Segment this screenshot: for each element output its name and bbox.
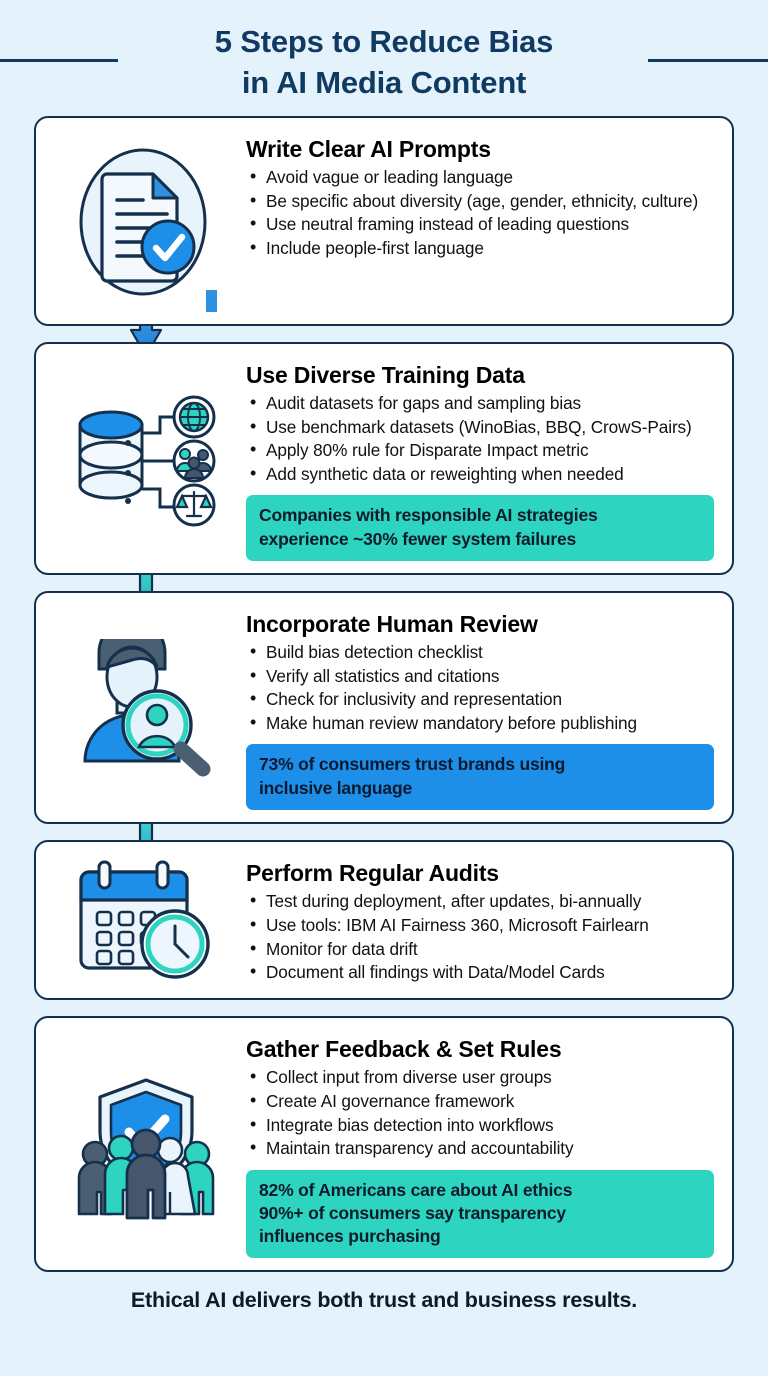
stat-badge-2: Companies with responsible AI strategies… bbox=[246, 495, 714, 561]
database-network-icon bbox=[46, 381, 246, 535]
step-bullets-1: Avoid vague or leading language Be speci… bbox=[246, 166, 714, 259]
bullet-item: Integrate bias detection into workflows bbox=[246, 1114, 714, 1137]
step-card-5: Gather Feedback & Set Rules Collect inpu… bbox=[34, 1016, 734, 1272]
steps-list: Write Clear AI Prompts Avoid vague or le… bbox=[0, 116, 768, 1273]
bullet-item: Avoid vague or leading language bbox=[246, 166, 714, 189]
bullet-item: Maintain transparency and accountability bbox=[246, 1137, 714, 1160]
bullet-item: Make human review mandatory before publi… bbox=[246, 712, 714, 735]
bullet-item: Monitor for data drift bbox=[246, 938, 714, 961]
bullet-item: Build bias detection checklist bbox=[246, 641, 714, 664]
step-body-3: Incorporate Human Review Build bias dete… bbox=[246, 605, 716, 810]
step-bullets-2: Audit datasets for gaps and sampling bia… bbox=[246, 392, 714, 485]
header-rule-right bbox=[648, 59, 768, 62]
step-body-4: Perform Regular Audits Test during deplo… bbox=[246, 854, 716, 985]
bullet-item: Create AI governance framework bbox=[246, 1090, 714, 1113]
header: 5 Steps to Reduce Bias in AI Media Conte… bbox=[0, 0, 768, 104]
bullet-item: Audit datasets for gaps and sampling bia… bbox=[246, 392, 714, 415]
bullet-item: Use benchmark datasets (WinoBias, BBQ, C… bbox=[246, 416, 714, 439]
bullet-item: Document all findings with Data/Model Ca… bbox=[246, 961, 714, 984]
step-body-1: Write Clear AI Prompts Avoid vague or le… bbox=[246, 130, 716, 261]
page-title: 5 Steps to Reduce Bias in AI Media Conte… bbox=[0, 22, 768, 104]
bullet-item: Check for inclusivity and representation bbox=[246, 688, 714, 711]
bullet-item: Use neutral framing instead of leading q… bbox=[246, 213, 714, 236]
stat-badge-5: 82% of Americans care about AI ethics 90… bbox=[246, 1170, 714, 1259]
calendar-clock-icon bbox=[46, 854, 246, 986]
step-title-5: Gather Feedback & Set Rules bbox=[246, 1036, 714, 1062]
document-check-icon bbox=[46, 130, 246, 312]
bullet-item: Apply 80% rule for Disparate Impact metr… bbox=[246, 439, 714, 462]
bullet-item: Include people-first language bbox=[246, 237, 714, 260]
shield-people-icon bbox=[46, 1068, 246, 1220]
stat-badge-3: 73% of consumers trust brands using incl… bbox=[246, 744, 714, 810]
footer-tagline: Ethical AI delivers both trust and busin… bbox=[0, 1288, 768, 1313]
bullet-item: Be specific about diversity (age, gender… bbox=[246, 190, 714, 213]
step-title-2: Use Diverse Training Data bbox=[246, 362, 714, 388]
step-card-1: Write Clear AI Prompts Avoid vague or le… bbox=[34, 116, 734, 326]
bullet-item: Use tools: IBM AI Fairness 360, Microsof… bbox=[246, 914, 714, 937]
step-card-4: Perform Regular Audits Test during deplo… bbox=[34, 840, 734, 1000]
person-magnifier-icon bbox=[46, 635, 246, 779]
header-rule-left bbox=[0, 59, 118, 62]
bullet-item: Collect input from diverse user groups bbox=[246, 1066, 714, 1089]
step-bullets-5: Collect input from diverse user groups C… bbox=[246, 1066, 714, 1159]
step-title-3: Incorporate Human Review bbox=[246, 611, 714, 637]
step-body-5: Gather Feedback & Set Rules Collect inpu… bbox=[246, 1030, 716, 1258]
step-bullets-3: Build bias detection checklist Verify al… bbox=[246, 641, 714, 734]
step-title-1: Write Clear AI Prompts bbox=[246, 136, 714, 162]
step-bullets-4: Test during deployment, after updates, b… bbox=[246, 890, 714, 983]
step-body-2: Use Diverse Training Data Audit datasets… bbox=[246, 356, 716, 561]
step-card-3: Incorporate Human Review Build bias dete… bbox=[34, 591, 734, 824]
step-title-4: Perform Regular Audits bbox=[246, 860, 714, 886]
bullet-item: Test during deployment, after updates, b… bbox=[246, 890, 714, 913]
step-card-2: Use Diverse Training Data Audit datasets… bbox=[34, 342, 734, 575]
bullet-item: Verify all statistics and citations bbox=[246, 665, 714, 688]
bullet-item: Add synthetic data or reweighting when n… bbox=[246, 463, 714, 486]
